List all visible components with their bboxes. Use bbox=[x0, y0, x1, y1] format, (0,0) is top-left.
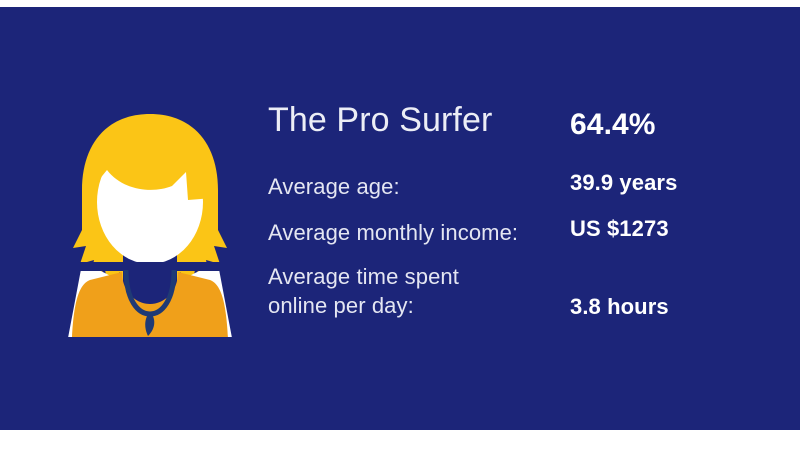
stat-value-monthly-income: US $1273 bbox=[570, 216, 669, 242]
stat-row-monthly-income: Average monthly income: US $1273 bbox=[268, 214, 738, 248]
persona-title-row: The Pro Surfer 64.4% bbox=[268, 104, 738, 152]
stat-row-time-online: Average time spent online per day: 3.8 h… bbox=[268, 260, 738, 324]
head-body-gap bbox=[60, 262, 240, 271]
illustration-bottom-cut bbox=[60, 337, 240, 340]
stat-label-time-online: Average time spent online per day: bbox=[268, 262, 459, 320]
stat-label-average-age: Average age: bbox=[268, 172, 400, 201]
stat-row-average-age: Average age: 39.9 years bbox=[268, 168, 738, 202]
page-title: The Pro Surfer bbox=[268, 106, 492, 135]
stat-value-average-age: 39.9 years bbox=[570, 170, 677, 196]
stat-label-monthly-income: Average monthly income: bbox=[268, 218, 518, 247]
persona-avatar-illustration bbox=[60, 112, 240, 340]
persona-stats-block: The Pro Surfer 64.4% Average age: 39.9 y… bbox=[268, 104, 738, 334]
persona-percentage: 64.4% bbox=[570, 108, 656, 142]
stat-value-time-online: 3.8 hours bbox=[570, 294, 669, 320]
infographic-slide: The Pro Surfer 64.4% Average age: 39.9 y… bbox=[0, 0, 800, 450]
